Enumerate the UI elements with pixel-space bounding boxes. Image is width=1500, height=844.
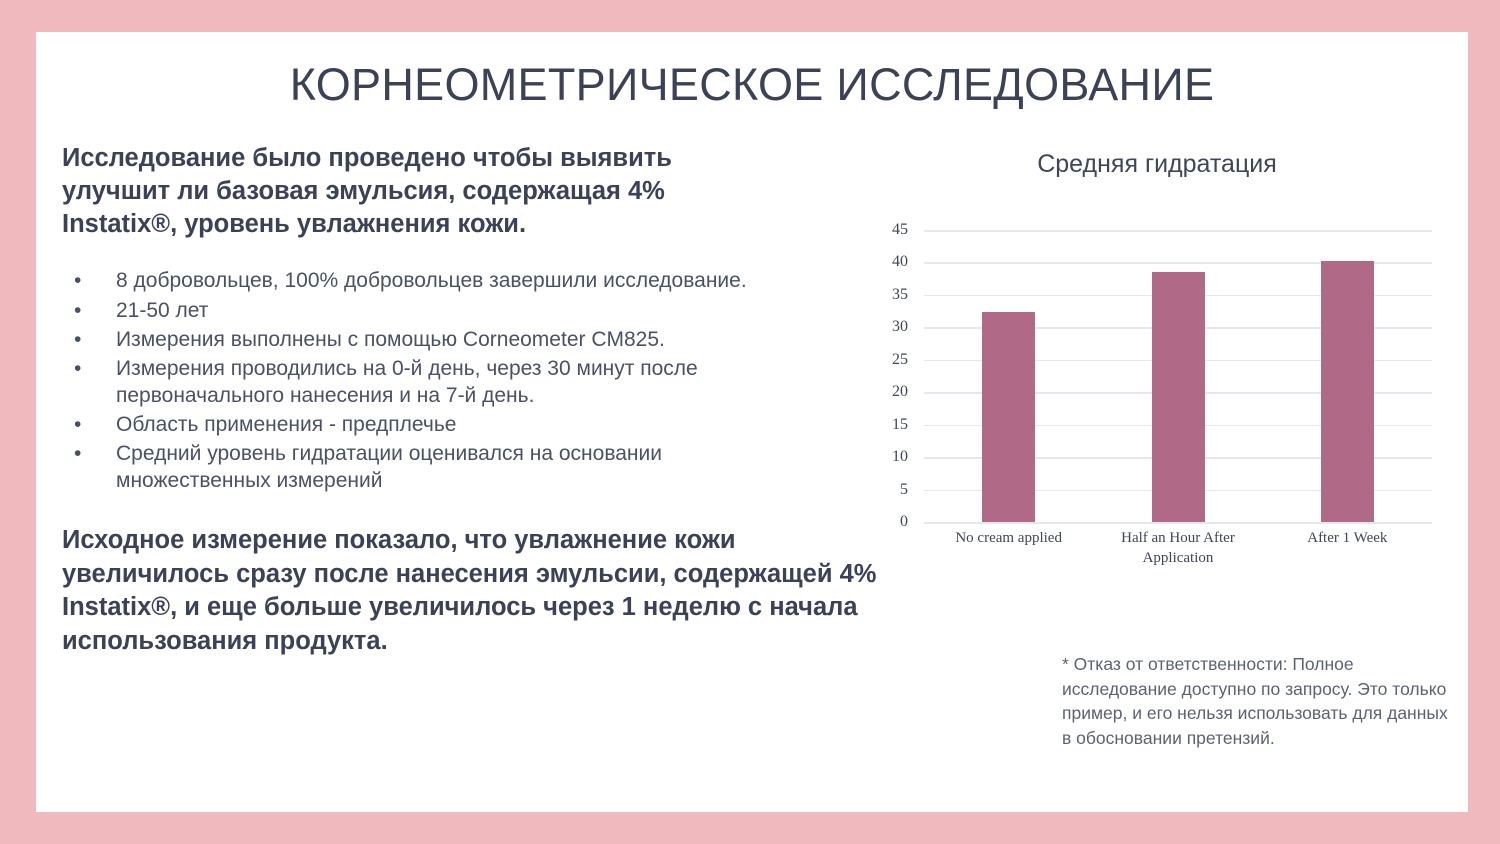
list-item-label: Измерения выполнены с помощью Corneomete…	[116, 328, 665, 351]
x-axis-category-label: After 1 Week	[1257, 528, 1438, 548]
y-axis-tick-label: 0	[862, 513, 908, 531]
lead-paragraph: Исследование было проведено чтобы выявит…	[62, 142, 777, 241]
chart-x-axis-labels: No cream appliedHalf an Hour After Appli…	[924, 528, 1432, 588]
list-item-label: Измерения проводились на 0-й день, через…	[116, 357, 698, 407]
disclaimer-text: * Отказ от ответственности: Полное иссле…	[1062, 652, 1454, 750]
bar	[982, 312, 1035, 522]
list-item: •8 добровольцев, 100% добровольцев завер…	[62, 267, 762, 294]
list-item: •Измерения выполнены с помощью Corneomet…	[62, 326, 762, 353]
chart-y-axis: 454035302520151050	[862, 230, 908, 522]
y-axis-tick-label: 15	[862, 416, 908, 434]
chart-plot-area: 454035302520151050	[862, 230, 1452, 522]
hydration-bar-chart: Средняя гидратация 454035302520151050 No…	[862, 150, 1452, 590]
chart-title: Средняя гидратация	[862, 150, 1452, 179]
bullet-dot-icon: •	[74, 267, 81, 294]
slide-border: КОРНЕОМЕТРИЧЕСКОЕ ИССЛЕДОВАНИЕ Исследова…	[0, 0, 1500, 844]
bullet-dot-icon: •	[74, 411, 81, 438]
y-axis-tick-label: 25	[862, 351, 908, 369]
page-title: КОРНЕОМЕТРИЧЕСКОЕ ИССЛЕДОВАНИЕ	[36, 59, 1468, 111]
list-item-label: 21-50 лет	[116, 299, 208, 322]
bullet-dot-icon: •	[74, 297, 81, 324]
list-item: •Средний уровень гидратации оценивался н…	[62, 440, 762, 494]
conclusion-paragraph: Исходное измерение показало, что увлажне…	[62, 524, 877, 659]
y-axis-tick-label: 45	[862, 221, 908, 239]
list-item: •21-50 лет	[62, 297, 762, 324]
slide-card: КОРНЕОМЕТРИЧЕСКОЕ ИССЛЕДОВАНИЕ Исследова…	[36, 32, 1468, 812]
list-item-label: Область применения - предплечье	[116, 413, 456, 436]
list-item: •Измерения проводились на 0-й день, чере…	[62, 355, 762, 409]
list-item-label: 8 добровольцев, 100% добровольцев заверш…	[116, 269, 747, 292]
y-axis-tick-label: 30	[862, 318, 908, 336]
y-axis-tick-label: 5	[862, 481, 908, 499]
list-item: •Область применения - предплечье	[62, 411, 762, 438]
bullet-dot-icon: •	[74, 440, 81, 467]
x-axis-category-label: No cream applied	[918, 528, 1099, 548]
bar	[1321, 261, 1374, 523]
left-content-column: Исследование было проведено чтобы выявит…	[62, 142, 892, 659]
x-axis-category-label: Half an Hour After Application	[1087, 528, 1268, 569]
chart-bars	[924, 230, 1432, 522]
gridline	[924, 522, 1432, 524]
bullet-dot-icon: •	[74, 326, 81, 353]
y-axis-tick-label: 35	[862, 286, 908, 304]
list-item-label: Средний уровень гидратации оценивался на…	[116, 442, 662, 492]
study-bullet-list: •8 добровольцев, 100% добровольцев завер…	[62, 267, 762, 494]
y-axis-tick-label: 20	[862, 383, 908, 401]
bar	[1152, 272, 1205, 522]
y-axis-tick-label: 10	[862, 448, 908, 466]
bullet-dot-icon: •	[74, 355, 81, 382]
y-axis-tick-label: 40	[862, 253, 908, 271]
